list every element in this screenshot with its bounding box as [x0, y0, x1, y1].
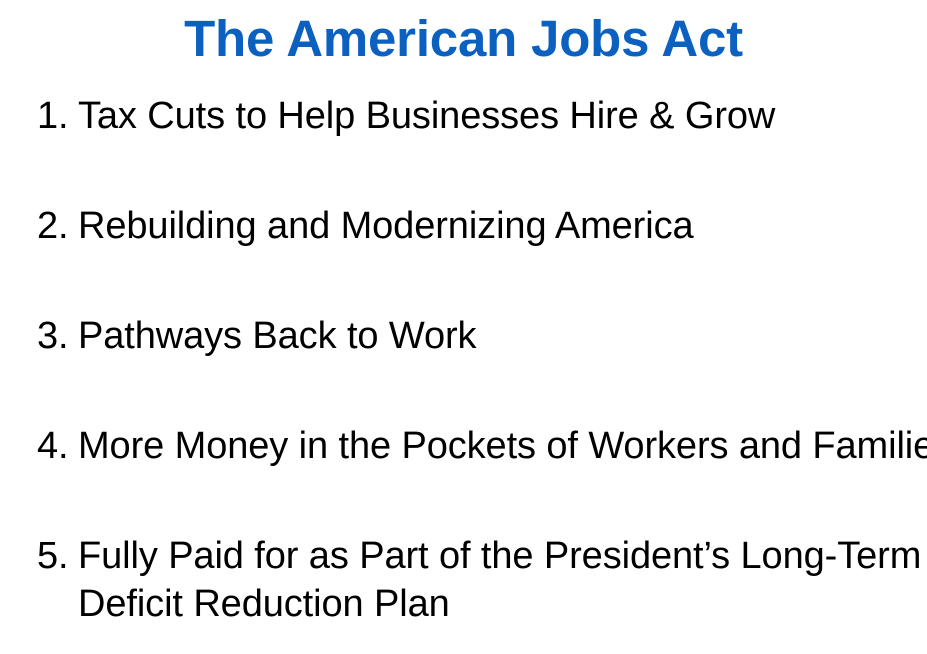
list-item: 4. More Money in the Pockets of Workers … — [37, 422, 907, 470]
list-item-text: Pathways Back to Work — [78, 312, 907, 360]
list-item-line: More Money in the Pockets of Workers and… — [78, 422, 907, 470]
list-item: 5. Fully Paid for as Part of the Preside… — [37, 532, 907, 628]
list-item-line: Pathways Back to Work — [78, 312, 907, 360]
list-item-line: Tax Cuts to Help Businesses Hire & Grow — [78, 92, 907, 140]
list-item: 3. Pathways Back to Work — [37, 312, 907, 360]
list-item-text: Fully Paid for as Part of the President’… — [78, 532, 907, 628]
list-item: 1. Tax Cuts to Help Businesses Hire & Gr… — [37, 92, 907, 140]
list-item-text: More Money in the Pockets of Workers and… — [78, 422, 907, 470]
slide-canvas: The American Jobs Act 1. Tax Cuts to Hel… — [0, 0, 927, 654]
jobs-act-list: 1. Tax Cuts to Help Businesses Hire & Gr… — [37, 92, 907, 628]
list-item-line: Fully Paid for as Part of the President’… — [78, 532, 907, 580]
list-item-number: 1. — [37, 92, 78, 140]
page-title: The American Jobs Act — [0, 12, 927, 66]
list-item-number: 5. — [37, 532, 78, 580]
list-item: 2. Rebuilding and Modernizing America — [37, 202, 907, 250]
list-item-number: 2. — [37, 202, 78, 250]
list-item-number: 3. — [37, 312, 78, 360]
list-item-line: Deficit Reduction Plan — [78, 580, 907, 628]
list-item-number: 4. — [37, 422, 78, 470]
list-item-text: Rebuilding and Modernizing America — [78, 202, 907, 250]
list-item-text: Tax Cuts to Help Businesses Hire & Grow — [78, 92, 907, 140]
list-item-line: Rebuilding and Modernizing America — [78, 202, 907, 250]
